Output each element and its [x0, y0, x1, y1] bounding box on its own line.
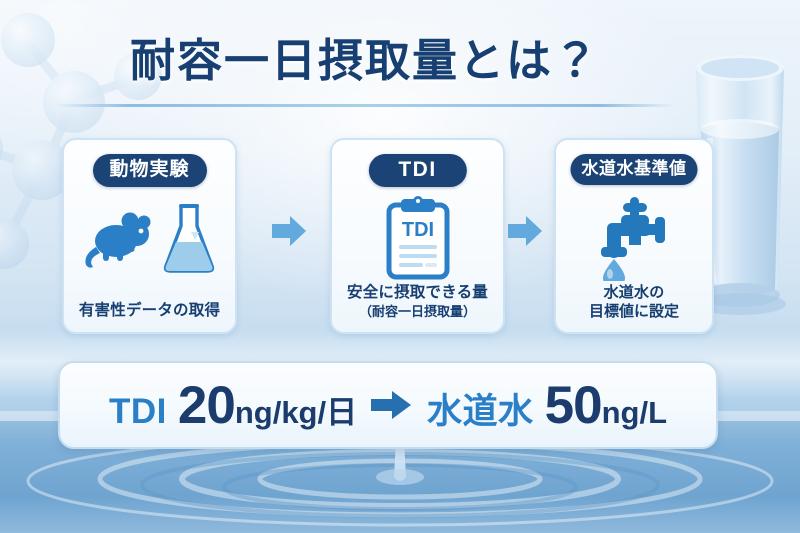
infographic-stage: 耐容一日摂取量とは？ 動物実験: [0, 0, 800, 533]
flow-card-tapwater-standard[interactable]: 水道水基準値: [554, 138, 714, 334]
summary-right-label: 水道水: [427, 383, 534, 434]
flow-card-animal-test[interactable]: 動物実験: [62, 138, 237, 334]
summary-left-value: 20: [178, 375, 235, 436]
svg-text:TDI: TDI: [401, 219, 433, 241]
card-caption-main: 有害性データの取得: [79, 302, 220, 319]
card-caption: 有害性データの取得: [64, 301, 235, 320]
flow-arrow-1-icon: [272, 215, 306, 247]
card-caption-sub: 目標値に設定: [556, 303, 712, 322]
card-caption: 安全に摂取できる量 （耐容一日摂取量）: [332, 283, 503, 320]
summary-row: TDI 20 ng/kg/日 水道水 50 ng/L: [109, 375, 667, 436]
card-caption-main: 安全に摂取できる量: [347, 284, 488, 301]
card-badge: TDI: [368, 154, 466, 187]
summary-arrow-icon: [371, 390, 411, 420]
summary-left-label: TDI: [109, 392, 167, 432]
flow-arrow-2-icon: [508, 215, 542, 247]
summary-right-unit: ng/L: [602, 395, 667, 431]
flask-icon: [161, 200, 217, 276]
summary-bar[interactable]: TDI 20 ng/kg/日 水道水 50 ng/L: [58, 361, 718, 449]
card-icon-zone: [556, 194, 712, 282]
card-caption: 水道水の 目標値に設定: [556, 284, 712, 323]
card-icon-zone: TDI: [332, 194, 503, 282]
summary-left-unit: ng/kg/日: [235, 387, 357, 432]
page-title-wrap: 耐容一日摂取量とは？: [0, 24, 730, 89]
card-icon-zone: [64, 194, 235, 282]
mouse-icon: [83, 207, 155, 269]
card-caption-main: 水道水の: [604, 284, 665, 301]
page-title: 耐容一日摂取量とは？: [0, 24, 730, 89]
faucet-icon: [593, 195, 675, 281]
summary-right-value: 50: [545, 375, 602, 436]
card-caption-sub: （耐容一日摂取量）: [332, 304, 503, 320]
flow-cards: 動物実験: [0, 138, 740, 338]
flow-card-tdi[interactable]: TDI TDI 安全に摂取できる量 （耐容一日摂取量）: [330, 138, 505, 334]
card-badge: 動物実験: [92, 154, 206, 187]
title-divider: [55, 104, 675, 107]
clipboard-tdi-icon: TDI: [384, 195, 452, 281]
card-badge: 水道水基準値: [571, 154, 698, 185]
